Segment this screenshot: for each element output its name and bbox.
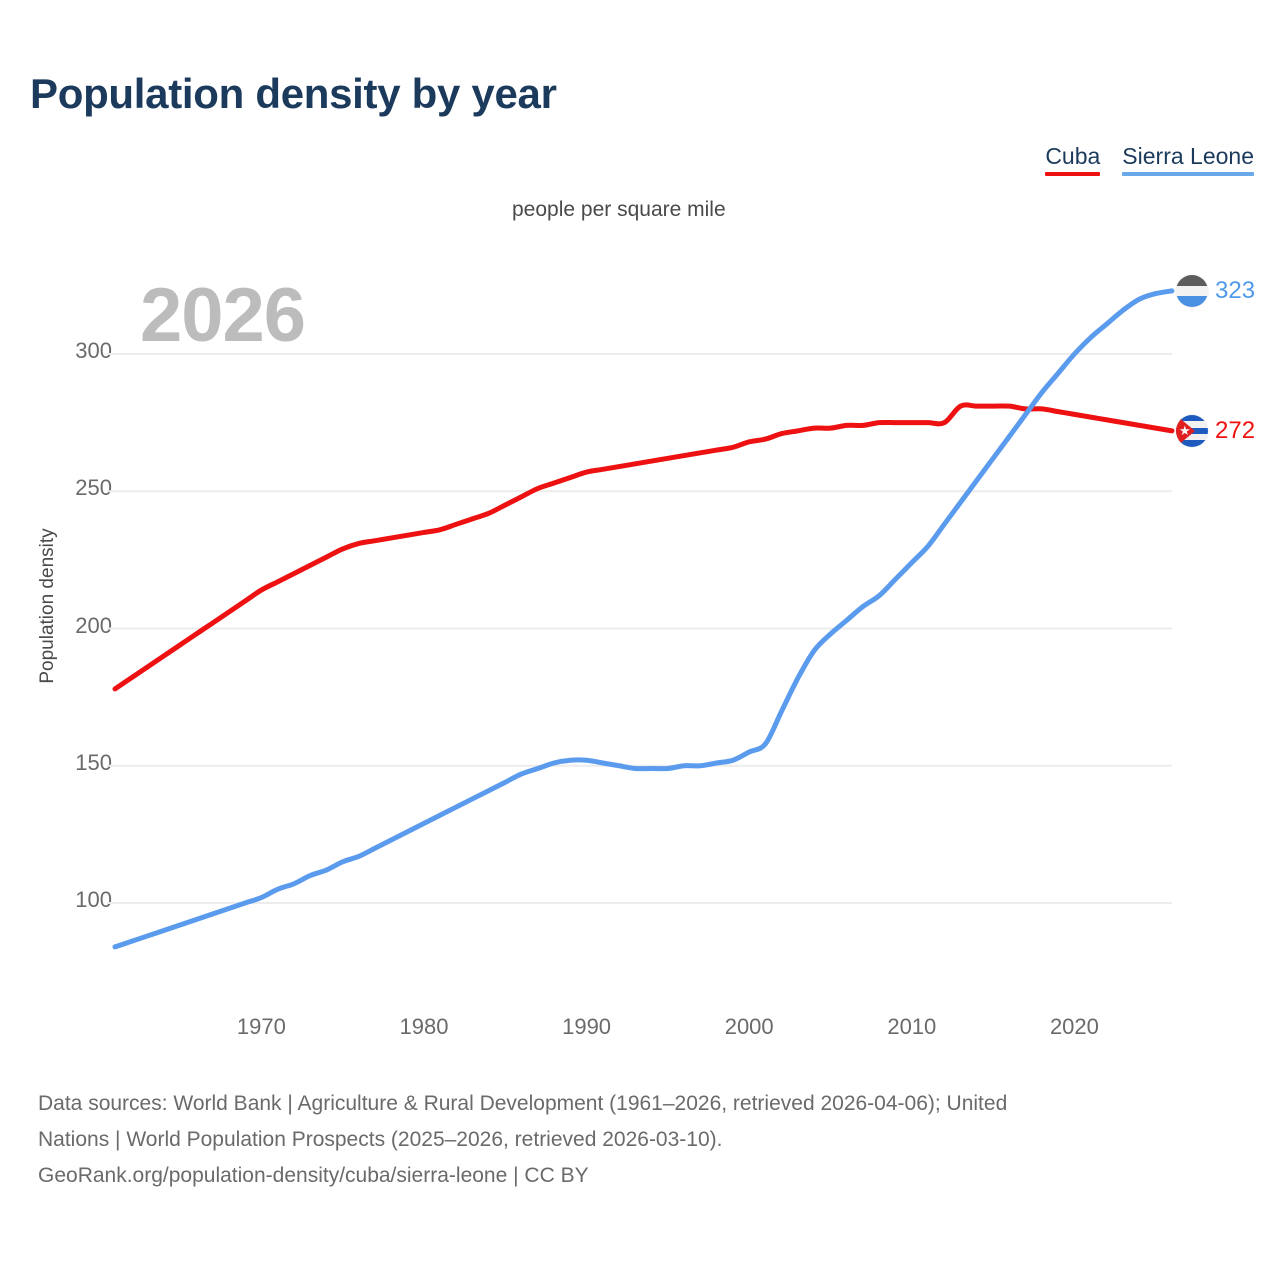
chart-page: Population density by year Cuba Sierra L… xyxy=(0,0,1280,1280)
footer-line-3: GeoRank.org/population-density/cuba/sier… xyxy=(38,1158,1258,1194)
footer-sources: Data sources: World Bank | Agriculture &… xyxy=(38,1086,1258,1194)
end-label-cuba: ★ 272 xyxy=(1176,415,1255,447)
end-value-sierra-leone: 323 xyxy=(1215,277,1255,305)
footer-line-2: Nations | World Population Prospects (20… xyxy=(38,1122,1258,1158)
series-line-cuba xyxy=(115,405,1172,689)
cuba-flag-icon: ★ xyxy=(1176,415,1208,447)
end-value-cuba: 272 xyxy=(1215,417,1255,445)
series-line-sierra-leone xyxy=(115,291,1172,947)
end-label-sierra-leone: 323 xyxy=(1176,275,1255,307)
footer-line-1: Data sources: World Bank | Agriculture &… xyxy=(38,1086,1258,1122)
sierra-leone-flag-icon xyxy=(1176,275,1208,307)
